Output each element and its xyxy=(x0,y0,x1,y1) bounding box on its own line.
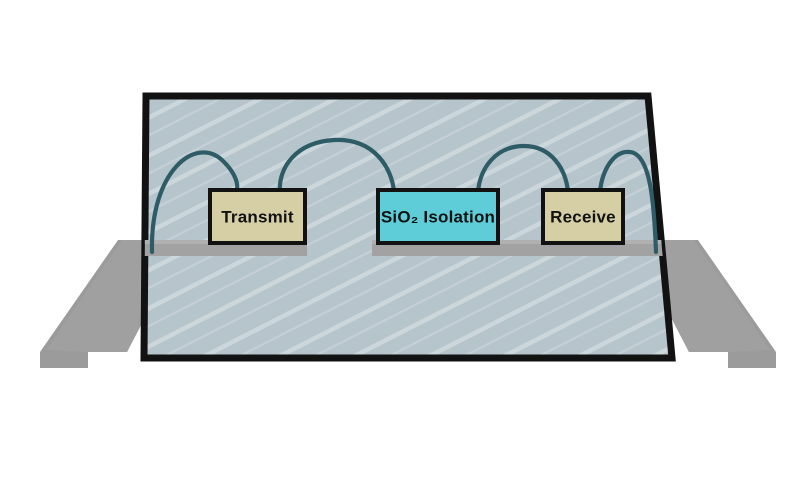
die-sio2-isolation-label: SiO₂ Isolation xyxy=(381,207,495,226)
ic-package-diagram: Transmit SiO₂ Isolation Receive xyxy=(0,0,800,480)
die-receive-label: Receive xyxy=(550,207,616,226)
die-sio2-isolation[interactable]: SiO₂ Isolation xyxy=(378,190,498,243)
die-group: Transmit SiO₂ Isolation Receive xyxy=(210,190,623,243)
die-transmit-label: Transmit xyxy=(221,207,294,226)
die-transmit[interactable]: Transmit xyxy=(210,190,305,243)
die-receive[interactable]: Receive xyxy=(543,190,623,243)
package-cross-section-svg: Transmit SiO₂ Isolation Receive xyxy=(0,0,800,480)
